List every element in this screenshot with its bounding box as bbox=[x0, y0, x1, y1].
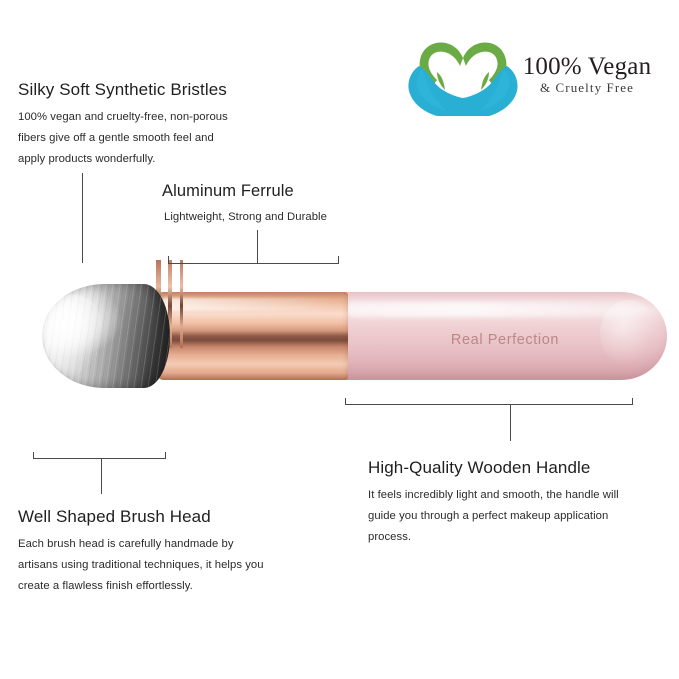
feature-handle-line-3: process. bbox=[368, 527, 619, 548]
feature-bristles: Silky Soft Synthetic Bristles 100% vegan… bbox=[18, 80, 228, 170]
handle-bracket-bar bbox=[345, 404, 633, 405]
feature-ferrule-line-1: Lightweight, Strong and Durable bbox=[164, 207, 327, 228]
feature-brush-head-line-2: artisans using traditional techniques, i… bbox=[18, 555, 264, 576]
vegan-cruelty-free-badge: 100% Vegan & Cruelty Free bbox=[404, 28, 654, 118]
badge-main-text: 100% Vegan bbox=[517, 54, 657, 79]
feature-ferrule-body: Lightweight, Strong and Durable bbox=[162, 207, 327, 228]
ferrule-highlight bbox=[160, 298, 344, 311]
hands-heart-leaf-icon bbox=[404, 28, 522, 116]
feature-handle-line-1: It feels incredibly light and smooth, th… bbox=[368, 485, 619, 506]
brush-head-bracket-tick-right bbox=[165, 452, 166, 459]
feature-brush-head-line-1: Each brush head is carefully handmade by bbox=[18, 534, 264, 555]
feature-ferrule-heading: Aluminum Ferrule bbox=[162, 182, 327, 202]
handle-bracket-tick-left bbox=[345, 398, 346, 405]
feature-bristles-body: 100% vegan and cruelty-free, non-porous … bbox=[18, 107, 228, 170]
ferrule-band-3 bbox=[180, 260, 183, 348]
feature-brush-head: Well Shaped Brush Head Each brush head i… bbox=[18, 507, 264, 597]
brush-bristles bbox=[42, 284, 170, 388]
feature-handle-body: It feels incredibly light and smooth, th… bbox=[368, 485, 619, 548]
brand-text: Real Perfection bbox=[420, 332, 590, 348]
badge-sub-text: & Cruelty Free bbox=[517, 80, 657, 96]
feature-brush-head-heading: Well Shaped Brush Head bbox=[18, 507, 264, 527]
feature-bristles-line-3: apply products wonderfully. bbox=[18, 149, 228, 170]
ferrule-bracket-tick-right bbox=[338, 256, 339, 264]
feature-bristles-line-2: fibers give off a gentle smooth feel and bbox=[18, 128, 228, 149]
feature-handle-heading: High-Quality Wooden Handle bbox=[368, 458, 619, 478]
handle-highlight bbox=[346, 302, 646, 317]
feature-brush-head-body: Each brush head is carefully handmade by… bbox=[18, 534, 264, 597]
handle-bracket-stem bbox=[510, 404, 511, 441]
feature-handle: High-Quality Wooden Handle It feels incr… bbox=[368, 458, 619, 548]
feature-handle-line-2: guide you through a perfect makeup appli… bbox=[368, 506, 619, 527]
handle-bracket-tick-right bbox=[632, 398, 633, 405]
feature-bristles-line-1: 100% vegan and cruelty-free, non-porous bbox=[18, 107, 228, 128]
feature-brush-head-line-3: create a flawless finish effortlessly. bbox=[18, 576, 264, 597]
infographic-canvas: 100% Vegan & Cruelty Free Real Perfectio… bbox=[0, 0, 679, 679]
brush-head-bracket-tick-left bbox=[33, 452, 34, 459]
brush-head-bracket-bar bbox=[33, 458, 166, 459]
makeup-brush-illustration: Real Perfection bbox=[0, 260, 679, 410]
brush-head-bracket-stem bbox=[101, 458, 102, 494]
feature-bristles-heading: Silky Soft Synthetic Bristles bbox=[18, 80, 228, 100]
ferrule-bracket-stem bbox=[257, 230, 258, 264]
bristles-leader-line bbox=[82, 173, 83, 263]
badge-text: 100% Vegan & Cruelty Free bbox=[517, 54, 657, 96]
handle-end-highlight bbox=[600, 300, 658, 366]
ferrule-bracket-tick-left bbox=[168, 256, 169, 264]
feature-ferrule: Aluminum Ferrule Lightweight, Strong and… bbox=[162, 182, 327, 228]
ferrule-bracket-bar bbox=[168, 263, 339, 264]
